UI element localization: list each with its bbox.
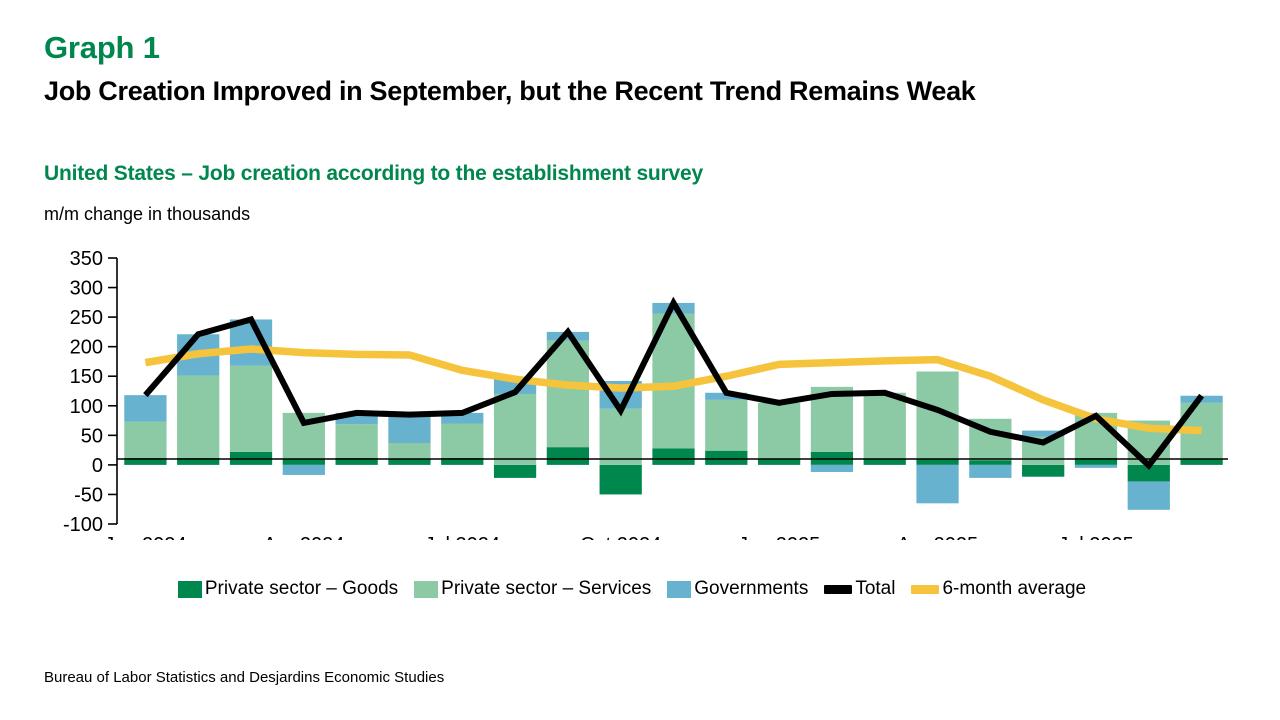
bar-segment-services [177,376,219,458]
chart-legend: Private sector – GoodsPrivate sector – S… [0,578,1280,600]
bar-segment-goods [283,459,325,465]
y-axis-tick-label: 50 [81,425,103,447]
legend-item[interactable]: Governments [667,578,808,600]
bar-segment-goods [969,460,1011,465]
chart-subtitle: United States – Job creation according t… [44,162,703,186]
y-axis: -100-50050100150200250300350 [63,248,117,536]
bar-segment-goods [547,447,589,465]
x-axis-tick-label: Jan 2024 [104,534,186,540]
bar-may-2024[interactable] [336,413,378,465]
bar-segment-goods [652,448,694,465]
bar-segment-goods [758,459,800,465]
square-swatch-services [414,581,438,598]
bar-segment-services [388,443,430,459]
bar-segment-goods [916,459,958,465]
square-swatch-goods [178,581,202,598]
bar-oct-2024[interactable] [600,381,642,494]
bar-segment-governments [969,465,1011,478]
bar-segment-services [705,400,747,451]
bar-jun-2024[interactable] [388,415,430,465]
bar-segment-services [758,403,800,459]
bar-jan-2025[interactable] [758,403,800,465]
bar-segment-goods [1022,465,1064,477]
legend-item[interactable]: 6-month average [911,578,1086,600]
bar-segment-governments [1075,465,1117,468]
bar-mar-2024[interactable] [230,319,272,464]
x-axis-tick-label: Jul 2024 [424,534,500,540]
source-note: Bureau of Labor Statistics and Desjardin… [44,669,444,686]
legend-label: 6-month average [942,578,1086,600]
legend-item[interactable]: Private sector – Goods [178,578,398,600]
chart-svg: -100-50050100150200250300350Jan 2024Apr … [0,240,1280,540]
bar-segment-goods [600,465,642,495]
y-axis-tick-label: 150 [70,366,103,388]
bar-segment-goods [705,451,747,465]
bar-segment-services [124,422,166,458]
bar-segment-governments [916,465,958,503]
bar-mar-2025[interactable] [864,393,906,465]
bar-segment-goods [388,459,430,465]
y-axis-tick-label: 0 [92,455,103,477]
x-axis-tick-label: Apr 2024 [263,534,344,540]
bar-segment-services [230,366,272,452]
bar-jan-2024[interactable] [124,395,166,465]
bar-segment-services [441,424,483,458]
bar-segment-services [494,394,536,465]
x-axis-tick-label: Apr 2025 [897,534,978,540]
page-title: Job Creation Improved in September, but … [44,76,1204,108]
bar-segment-governments [388,415,430,443]
legend-label: Private sector – Services [441,578,651,600]
bar-jul-2024[interactable] [441,413,483,465]
bar-segment-services [864,393,906,459]
square-swatch-governments [667,581,691,598]
y-axis-tick-label: -50 [74,484,103,506]
bar-segment-goods [494,465,536,478]
bar-segment-services [336,424,378,458]
bar-segment-goods [1180,459,1222,465]
legend-label: Total [855,578,895,600]
bar-segment-goods [864,459,906,465]
plot-area: -100-50050100150200250300350Jan 2024Apr … [0,240,1280,540]
legend-label: Private sector – Goods [205,578,398,600]
line-swatch-average [911,585,939,594]
y-axis-tick-label: -100 [63,514,103,536]
y-axis-tick-label: 200 [70,337,103,359]
bar-segment-governments [811,465,853,472]
y-axis-units-label: m/m change in thousands [44,204,250,225]
x-axis-tick-label: Jul 2025 [1058,534,1134,540]
x-axis-labels: Jan 2024Apr 2024Jul 2024Oct 2024Jan 2025… [104,534,1134,540]
bar-dec-2024[interactable] [705,393,747,465]
x-axis-tick-label: Oct 2024 [580,534,661,540]
bar-segment-governments [1128,481,1170,509]
legend-label: Governments [694,578,808,600]
legend-item[interactable]: Total [824,578,895,600]
legend-item[interactable]: Private sector – Services [414,578,651,600]
bar-segment-services [600,409,642,465]
bar-segment-governments [283,465,325,475]
bar-apr-2025[interactable] [916,371,958,503]
x-axis-tick-label: Jan 2025 [738,534,820,540]
y-axis-tick-label: 100 [70,396,103,418]
y-axis-tick-label: 300 [70,278,103,300]
y-axis-tick-label: 350 [70,248,103,270]
graph-number: Graph 1 [44,30,160,66]
chart-page: Graph 1 Job Creation Improved in Septemb… [0,0,1280,720]
line-swatch-total [824,585,852,594]
bar-segment-governments [124,395,166,422]
y-axis-tick-label: 250 [70,307,103,329]
